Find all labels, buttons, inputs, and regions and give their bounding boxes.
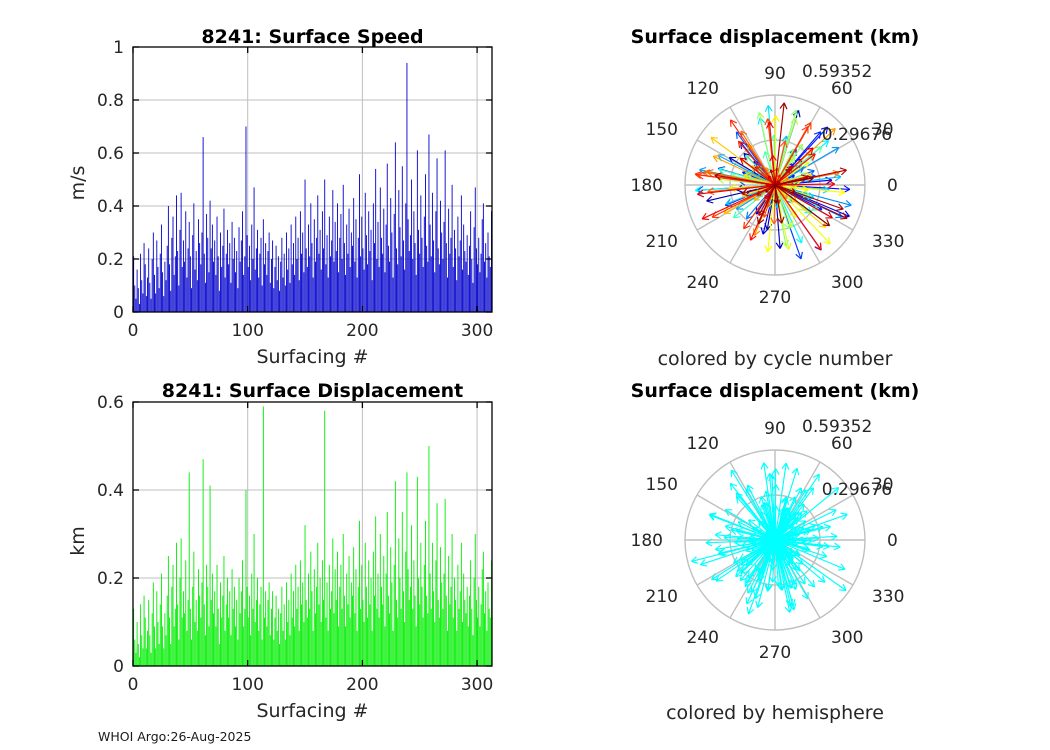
- speed-bar: [300, 211, 301, 312]
- polar-cycle-arrowhead: [780, 242, 783, 248]
- speed-bar: [464, 251, 465, 312]
- speed-bar: [388, 246, 389, 312]
- displacement-bar: [160, 604, 161, 666]
- speed-bar: [142, 293, 143, 312]
- speed-bar: [294, 275, 295, 312]
- speed-bar: [285, 286, 286, 313]
- displacement-bar: [212, 574, 213, 666]
- speed-bar: [210, 201, 211, 312]
- displacement-bar: [281, 587, 282, 666]
- speed-bar: [452, 185, 453, 312]
- speed-bar: [213, 262, 214, 312]
- polar-cycle-title: Surface displacement (km): [595, 26, 955, 48]
- speed-bar: [364, 270, 365, 312]
- speed-bar: [486, 278, 487, 312]
- speed-bar: [477, 264, 478, 312]
- displacement-bar: [486, 631, 487, 666]
- speed-bar: [167, 246, 168, 312]
- displacement-bar: [206, 565, 207, 666]
- speed-bar: [137, 270, 138, 312]
- speed-bar: [168, 206, 169, 312]
- speed-bar: [395, 142, 396, 312]
- displacement-ytick-label: 0.2: [97, 569, 124, 589]
- displacement-bar: [284, 604, 285, 666]
- speed-bar: [147, 278, 148, 312]
- speed-bar: [383, 209, 384, 312]
- displacement-bar: [270, 635, 271, 666]
- displacement-bar: [252, 609, 253, 666]
- speed-bar: [314, 219, 315, 312]
- displacement-bar: [186, 631, 187, 666]
- displacement-bar: [203, 459, 204, 666]
- displacement-bar: [173, 565, 174, 666]
- displacement-bar: [316, 587, 317, 666]
- polar-hemisphere-arrowhead: [838, 569, 845, 570]
- displacement-bar: [403, 591, 404, 666]
- displacement-bar: [393, 631, 394, 666]
- speed-bar: [265, 243, 266, 312]
- displacement-bar: [362, 600, 363, 666]
- speed-bar: [380, 187, 381, 312]
- displacement-bar: [479, 626, 480, 666]
- speed-bar: [227, 230, 228, 312]
- speed-bar: [325, 264, 326, 312]
- displacement-bar: [357, 631, 358, 666]
- displacement-bar: [213, 613, 214, 666]
- polar-cycle-arrowhead: [736, 132, 737, 139]
- polar-cycle-angle-label-90: 90: [764, 64, 786, 84]
- speed-bar: [234, 238, 235, 312]
- speed-bar: [286, 233, 287, 313]
- displacement-bar: [351, 582, 352, 666]
- polar-hemisphere-angle-label-90: 90: [764, 419, 786, 439]
- speed-bar: [360, 256, 361, 312]
- displacement-bar: [182, 618, 183, 666]
- displacement-bar: [208, 626, 209, 666]
- displacement-bar: [448, 556, 449, 666]
- polar-hemisphere-arrowhead: [716, 580, 723, 581]
- polar-hemisphere-angle-label-210: 210: [646, 587, 678, 607]
- speed-bar: [365, 193, 366, 312]
- displacement-bar: [268, 600, 269, 666]
- displacement-bar: [249, 596, 250, 666]
- speed-bar: [184, 262, 185, 312]
- speed-bar: [215, 275, 216, 312]
- polar-cycle-arrowhead: [763, 152, 765, 159]
- speed-bar: [307, 267, 308, 312]
- displacement-bar: [331, 591, 332, 666]
- polar-hemisphere-vector: [775, 484, 776, 540]
- speed-bar: [406, 63, 407, 312]
- displacement-bar: [404, 622, 405, 666]
- speed-bar: [413, 211, 414, 312]
- displacement-bar: [141, 635, 142, 666]
- speed-bar: [457, 217, 458, 312]
- speed-bar: [230, 283, 231, 312]
- displacement-bar: [386, 574, 387, 666]
- displacement-bar: [176, 543, 177, 666]
- speed-bar: [181, 193, 182, 312]
- polar-cycle-angle-label-60: 60: [831, 79, 853, 99]
- displacement-bar: [488, 582, 489, 666]
- speed-bar: [359, 174, 360, 312]
- speed-bar: [453, 267, 454, 312]
- displacement-bar: [262, 640, 263, 666]
- displacement-bar: [366, 587, 367, 666]
- speed-bar: [330, 256, 331, 312]
- speed-bar: [381, 238, 382, 312]
- displacement-bar: [243, 626, 244, 666]
- speed-bar: [312, 243, 313, 312]
- displacement-bar: [364, 622, 365, 666]
- displacement-bar: [151, 653, 152, 666]
- displacement-bar: [453, 618, 454, 666]
- speed-bar: [397, 264, 398, 312]
- speed-bar: [206, 214, 207, 312]
- speed-bar: [362, 248, 363, 312]
- speed-bar: [236, 251, 237, 312]
- speed-bar: [321, 270, 322, 312]
- speed-bar: [256, 248, 257, 312]
- displacement-bar: [256, 600, 257, 666]
- displacement-bar: [452, 534, 453, 666]
- displacement-bar: [379, 618, 380, 666]
- polar-hemisphere-angle-label-60: 60: [831, 434, 853, 454]
- displacement-panel-title: 8241: Surface Displacement: [133, 380, 492, 402]
- displacement-bar: [459, 609, 460, 666]
- polar-hemisphere-arrowhead: [793, 599, 795, 606]
- speed-bar: [420, 195, 421, 312]
- displacement-bar: [156, 591, 157, 666]
- speed-bar: [329, 217, 330, 312]
- speed-bar: [192, 235, 193, 312]
- displacement-bar: [406, 472, 407, 666]
- displacement-bar: [478, 587, 479, 666]
- speed-bar: [251, 225, 252, 312]
- speed-bar: [204, 254, 205, 312]
- displacement-bar: [225, 631, 226, 666]
- displacement-bar: [368, 560, 369, 666]
- displacement-bar: [400, 578, 401, 666]
- speed-bar: [229, 243, 230, 312]
- polar-hemisphere-arrowhead: [809, 524, 816, 525]
- speed-bar: [376, 259, 377, 312]
- polar-hemisphere-arrowhead: [761, 505, 762, 512]
- displacement-bar: [388, 596, 389, 666]
- speed-bar: [368, 211, 369, 312]
- speed-ytick-label: 0.6: [97, 144, 124, 164]
- speed-bar: [228, 264, 229, 312]
- speed-bar: [424, 217, 425, 312]
- speed-bar: [331, 240, 332, 312]
- displacement-bar: [221, 618, 222, 666]
- displacement-bar: [241, 591, 242, 666]
- speed-bar: [175, 256, 176, 312]
- displacement-bar: [367, 618, 368, 666]
- displacement-bar: [470, 560, 471, 666]
- speed-bar: [322, 211, 323, 312]
- displacement-bar: [265, 591, 266, 666]
- speed-bar: [332, 190, 333, 312]
- speed-bar: [280, 262, 281, 312]
- displacement-bar: [190, 609, 191, 666]
- displacement-bar: [287, 622, 288, 666]
- displacement-bar: [369, 604, 370, 666]
- displacement-bar: [352, 596, 353, 666]
- displacement-bar: [441, 582, 442, 666]
- speed-bar: [484, 262, 485, 312]
- speed-bar: [241, 240, 242, 312]
- displacement-bar: [375, 516, 376, 666]
- displacement-bar: [361, 565, 362, 666]
- speed-bar: [208, 272, 209, 312]
- displacement-bar: [411, 525, 412, 666]
- speed-bar: [379, 267, 380, 312]
- displacement-bar: [380, 534, 381, 666]
- displacement-bar: [218, 609, 219, 666]
- speed-bar: [373, 203, 374, 312]
- speed-bar: [148, 248, 149, 312]
- displacement-bar: [166, 635, 167, 666]
- displacement-bar: [226, 604, 227, 666]
- speed-bar: [422, 238, 423, 312]
- speed-bar: [233, 259, 234, 312]
- speed-bar: [199, 243, 200, 312]
- speed-bar: [324, 180, 325, 313]
- speed-bar: [220, 233, 221, 313]
- speed-bar: [389, 262, 390, 312]
- displacement-bar: [327, 582, 328, 666]
- polar-cycle-arrowhead: [840, 218, 847, 219]
- displacement-bar: [346, 574, 347, 666]
- displacement-bar: [474, 578, 475, 666]
- speed-bar: [323, 248, 324, 312]
- speed-bar: [169, 264, 170, 312]
- polar-cycle-arrowhead: [796, 118, 798, 125]
- speed-bar: [276, 246, 277, 312]
- speed-bar: [279, 291, 280, 312]
- speed-bar: [174, 275, 175, 312]
- speed-bar: [221, 267, 222, 312]
- displacement-ytick-label: 0: [113, 657, 124, 677]
- displacement-bar: [251, 574, 252, 666]
- speed-bar: [468, 275, 469, 312]
- polar-cycle-angle-label-150: 150: [646, 120, 678, 140]
- displacement-bar: [353, 547, 354, 666]
- displacement-bar: [292, 618, 293, 666]
- displacement-bar: [450, 587, 451, 666]
- speed-bar: [146, 296, 147, 312]
- speed-bar: [423, 267, 424, 312]
- displacement-bar: [445, 499, 446, 666]
- speed-bar: [255, 270, 256, 312]
- displacement-bar: [162, 626, 163, 666]
- speed-bar: [205, 283, 206, 312]
- speed-bar: [193, 203, 194, 312]
- displacement-bar: [293, 591, 294, 666]
- displacement-bar: [391, 582, 392, 666]
- speed-bar: [387, 164, 388, 312]
- polar-cycle-arrowhead: [765, 245, 768, 251]
- polar-cycle-arrowhead: [799, 110, 801, 117]
- displacement-xtick-label: 0: [128, 675, 139, 695]
- displacement-bar: [329, 565, 330, 666]
- polar-hemisphere-arrowhead: [747, 607, 748, 614]
- displacement-bar: [314, 569, 315, 666]
- polar-hemisphere-arrowhead: [706, 543, 712, 546]
- speed-bar: [277, 280, 278, 312]
- speed-bar: [162, 272, 163, 312]
- displacement-xtick-label: 300: [461, 675, 493, 695]
- displacement-bar: [237, 640, 238, 666]
- speed-bar: [292, 264, 293, 312]
- displacement-bar: [239, 578, 240, 666]
- speed-bar: [270, 283, 271, 312]
- polar-hemisphere-arrowhead: [823, 547, 829, 550]
- speed-bar: [246, 127, 247, 313]
- displacement-bar: [425, 521, 426, 666]
- speed-bar: [197, 280, 198, 312]
- displacement-bar: [291, 574, 292, 666]
- speed-bar: [291, 225, 292, 312]
- speed-bar: [309, 256, 310, 312]
- displacement-bar: [177, 604, 178, 666]
- displacement-bar: [484, 613, 485, 666]
- speed-bar: [438, 248, 439, 312]
- speed-bar: [190, 256, 191, 312]
- speed-bar: [428, 134, 429, 312]
- speed-bar: [427, 262, 428, 312]
- displacement-bar: [402, 512, 403, 666]
- polar-hemisphere-arrowhead: [746, 597, 747, 604]
- displacement-bar: [155, 648, 156, 666]
- speed-bar: [160, 254, 161, 312]
- speed-bar: [411, 180, 412, 313]
- polar-cycle-arrowhead: [697, 194, 703, 197]
- displacement-bar: [416, 626, 417, 666]
- speed-bar: [384, 272, 385, 312]
- speed-bar: [240, 262, 241, 312]
- displacement-bar: [306, 600, 307, 666]
- displacement-bar: [283, 631, 284, 666]
- displacement-bar: [277, 631, 278, 666]
- speed-bar: [372, 280, 373, 312]
- speed-bar: [185, 211, 186, 312]
- speed-bar: [460, 240, 461, 312]
- displacement-bar: [463, 574, 464, 666]
- speed-bar: [173, 217, 174, 312]
- speed-ytick-label: 1: [113, 38, 124, 58]
- polar-cycle-arrowhead: [820, 243, 821, 250]
- speed-bar: [200, 264, 201, 312]
- displacement-bar: [449, 604, 450, 666]
- speed-bar: [134, 286, 135, 313]
- displacement-bar: [440, 547, 441, 666]
- displacement-bar: [168, 556, 169, 666]
- displacement-bar: [305, 525, 306, 666]
- displacement-bar: [266, 626, 267, 666]
- speed-bar: [352, 246, 353, 312]
- speed-bar: [462, 270, 463, 312]
- displacement-bar: [299, 631, 300, 666]
- speed-bar: [263, 219, 264, 312]
- displacement-bar: [301, 604, 302, 666]
- speed-bar: [164, 262, 165, 312]
- speed-bar: [306, 248, 307, 312]
- speed-bar: [139, 304, 140, 312]
- speed-bar: [254, 187, 255, 312]
- speed-bar: [196, 251, 197, 312]
- displacement-bar: [432, 543, 433, 666]
- speed-bar: [308, 225, 309, 312]
- polar-cycle-arrowhead: [794, 156, 795, 163]
- speed-bar: [182, 267, 183, 312]
- speed-bar: [356, 219, 357, 312]
- polar-cycle-arrowhead: [840, 168, 847, 170]
- speed-bar: [434, 272, 435, 312]
- displacement-bar: [309, 609, 310, 666]
- displacement-bar: [438, 600, 439, 666]
- displacement-bar: [164, 613, 165, 666]
- polar-cycle-angle-label-240: 240: [687, 273, 719, 293]
- displacement-bar: [454, 578, 455, 666]
- polar-hemisphere-angle-label-180: 180: [631, 531, 663, 551]
- speed-bar: [483, 203, 484, 312]
- displacement-bar: [485, 591, 486, 666]
- speed-xtick-label: 0: [128, 321, 139, 341]
- displacement-bar: [269, 582, 270, 666]
- displacement-bar: [300, 560, 301, 666]
- displacement-bar: [328, 631, 329, 666]
- speed-bar: [439, 264, 440, 312]
- displacement-bar: [193, 552, 194, 666]
- displacement-bar: [313, 631, 314, 666]
- displacement-bar: [324, 411, 325, 666]
- displacement-bar: [161, 574, 162, 666]
- displacement-bar: [418, 578, 419, 666]
- speed-bar: [445, 150, 446, 312]
- displacement-bar: [318, 604, 319, 666]
- displacement-bar: [307, 618, 308, 666]
- speed-bar: [367, 264, 368, 312]
- polar-hemisphere-arrowhead: [834, 547, 840, 550]
- displacement-bar: [374, 596, 375, 666]
- displacement-bar: [285, 640, 286, 666]
- displacement-bar: [228, 618, 229, 666]
- polar-cycle-angle-label-300: 300: [831, 273, 863, 293]
- displacement-bar: [295, 565, 296, 666]
- polar-hemisphere-arrowhead: [725, 524, 732, 526]
- displacement-bar: [234, 587, 235, 666]
- displacement-bar: [246, 490, 247, 666]
- speed-bar: [195, 270, 196, 312]
- displacement-bar: [382, 604, 383, 666]
- displacement-bar: [235, 626, 236, 666]
- polar-cycle-arrowhead: [702, 219, 709, 220]
- displacement-bar: [188, 600, 189, 666]
- displacement-bar: [205, 635, 206, 666]
- speed-bar: [288, 248, 289, 312]
- speed-ytick-label: 0.2: [97, 250, 124, 270]
- speed-xtick-label: 100: [231, 321, 263, 341]
- displacement-bar: [456, 631, 457, 666]
- displacement-bar: [169, 618, 170, 666]
- displacement-bar: [490, 618, 491, 666]
- speed-bar: [235, 272, 236, 312]
- displacement-bar: [405, 552, 406, 666]
- polar-cycle-arrowhead: [713, 156, 720, 157]
- speed-bar: [358, 238, 359, 312]
